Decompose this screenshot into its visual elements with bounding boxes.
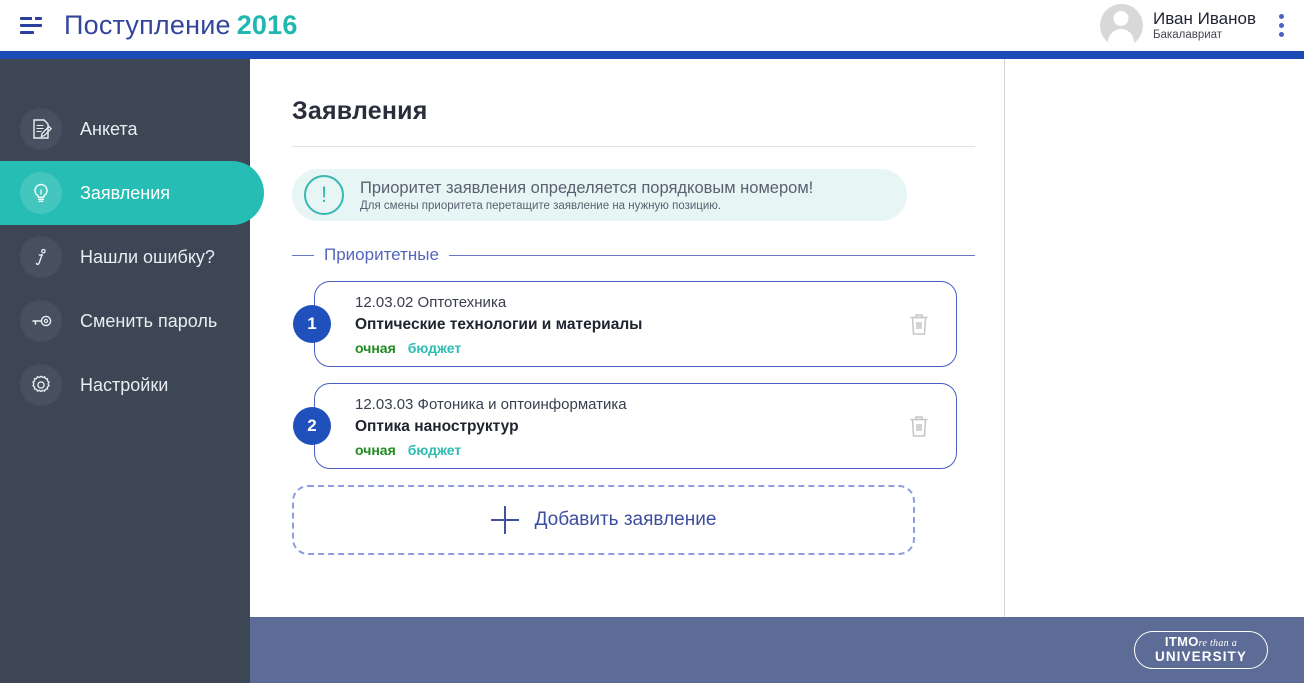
- sidebar-item-anketa[interactable]: Анкета: [0, 97, 250, 161]
- section-header-priority: Приоритетные: [292, 245, 975, 265]
- sidebar: Анкета Заявления: [0, 59, 250, 683]
- sidebar-item-change-password[interactable]: Сменить пароль: [0, 289, 250, 353]
- add-application-button[interactable]: Добавить заявление: [292, 485, 915, 555]
- app-title-year: 2016: [237, 10, 298, 40]
- application-list: 1 12.03.02 Оптотехника Оптические технол…: [292, 281, 974, 469]
- priority-badge[interactable]: 2: [293, 407, 331, 445]
- tag-study-form: очная: [355, 442, 396, 458]
- logo-mo: MO: [1177, 634, 1199, 649]
- title-divider: [292, 146, 975, 147]
- app-title-text: Поступление: [64, 10, 231, 40]
- tag-funding: бюджет: [408, 442, 462, 458]
- exclamation-circle-icon: !: [304, 175, 344, 215]
- application-tags: очная бюджет: [355, 340, 642, 356]
- user-role: Бакалавриат: [1153, 29, 1256, 42]
- sidebar-item-label: Сменить пароль: [80, 311, 217, 332]
- application-program: Оптика наноструктур: [355, 415, 627, 439]
- add-application-label: Добавить заявление: [535, 509, 717, 531]
- tag-funding: бюджет: [408, 340, 462, 356]
- user-area[interactable]: Иван Иванов Бакалавриат: [1100, 4, 1290, 47]
- application-root: Поступление2016 Иван Иванов Бакалавриат: [0, 0, 1304, 683]
- application-card[interactable]: 2 12.03.03 Фотоника и оптоинформатика Оп…: [314, 383, 957, 469]
- page-title: Поступление2016: [64, 10, 298, 41]
- priority-badge[interactable]: 1: [293, 305, 331, 343]
- sidebar-item-zayavleniya[interactable]: Заявления: [0, 161, 264, 225]
- sidebar-item-label: Нашли ошибку?: [80, 247, 215, 268]
- user-name: Иван Иванов: [1153, 9, 1256, 29]
- kebab-menu-icon[interactable]: [1272, 8, 1290, 44]
- key-icon: [20, 300, 62, 342]
- application-program: Оптические технологии и материалы: [355, 313, 642, 337]
- hamburger-icon[interactable]: [20, 15, 46, 37]
- application-card[interactable]: 1 12.03.02 Оптотехника Оптические технол…: [314, 281, 957, 367]
- logo-it: IT: [1165, 634, 1177, 649]
- itmo-logo: ITMOre than a UNIVERSITY: [1134, 631, 1268, 669]
- application-tags: очная бюджет: [355, 442, 627, 458]
- plus-icon: [491, 506, 519, 534]
- trash-icon[interactable]: [904, 410, 934, 442]
- banner-title: Приоритет заявления определяется порядко…: [360, 178, 813, 199]
- sidebar-item-label: Настройки: [80, 375, 168, 396]
- document-pencil-icon: [20, 108, 62, 150]
- gear-icon: [20, 364, 62, 406]
- top-header: Поступление2016 Иван Иванов Бакалавриат: [0, 0, 1304, 51]
- application-code: 12.03.02 Оптотехника: [355, 292, 642, 314]
- lightbulb-icon: [20, 172, 62, 214]
- section-label: Приоритетные: [324, 245, 439, 265]
- sidebar-item-label: Заявления: [80, 183, 170, 204]
- trash-icon[interactable]: [904, 308, 934, 340]
- priority-info-banner: ! Приоритет заявления определяется поряд…: [292, 169, 907, 221]
- brand-bar: [0, 51, 1304, 59]
- sidebar-item-label: Анкета: [80, 119, 138, 140]
- banner-subtitle: Для смены приоритета перетащите заявлени…: [360, 200, 813, 212]
- content-title: Заявления: [292, 97, 974, 126]
- sidebar-nav: Анкета Заявления: [0, 97, 250, 417]
- section-dash: [292, 255, 314, 256]
- application-code: 12.03.03 Фотоника и оптоинформатика: [355, 394, 627, 416]
- sidebar-item-settings[interactable]: Настройки: [0, 353, 250, 417]
- info-italic-icon: [20, 236, 62, 278]
- section-rule: [449, 255, 975, 256]
- footer: ITMOre than a UNIVERSITY: [250, 617, 1304, 683]
- user-avatar-icon: [1100, 4, 1143, 47]
- user-text: Иван Иванов Бакалавриат: [1153, 9, 1256, 42]
- tag-study-form: очная: [355, 340, 396, 356]
- main-content: Заявления ! Приоритет заявления определя…: [250, 59, 1005, 617]
- logo-script: re than a: [1199, 638, 1237, 649]
- logo-university: UNIVERSITY: [1155, 650, 1247, 665]
- sidebar-item-found-error[interactable]: Нашли ошибку?: [0, 225, 250, 289]
- right-panel: [1006, 59, 1304, 617]
